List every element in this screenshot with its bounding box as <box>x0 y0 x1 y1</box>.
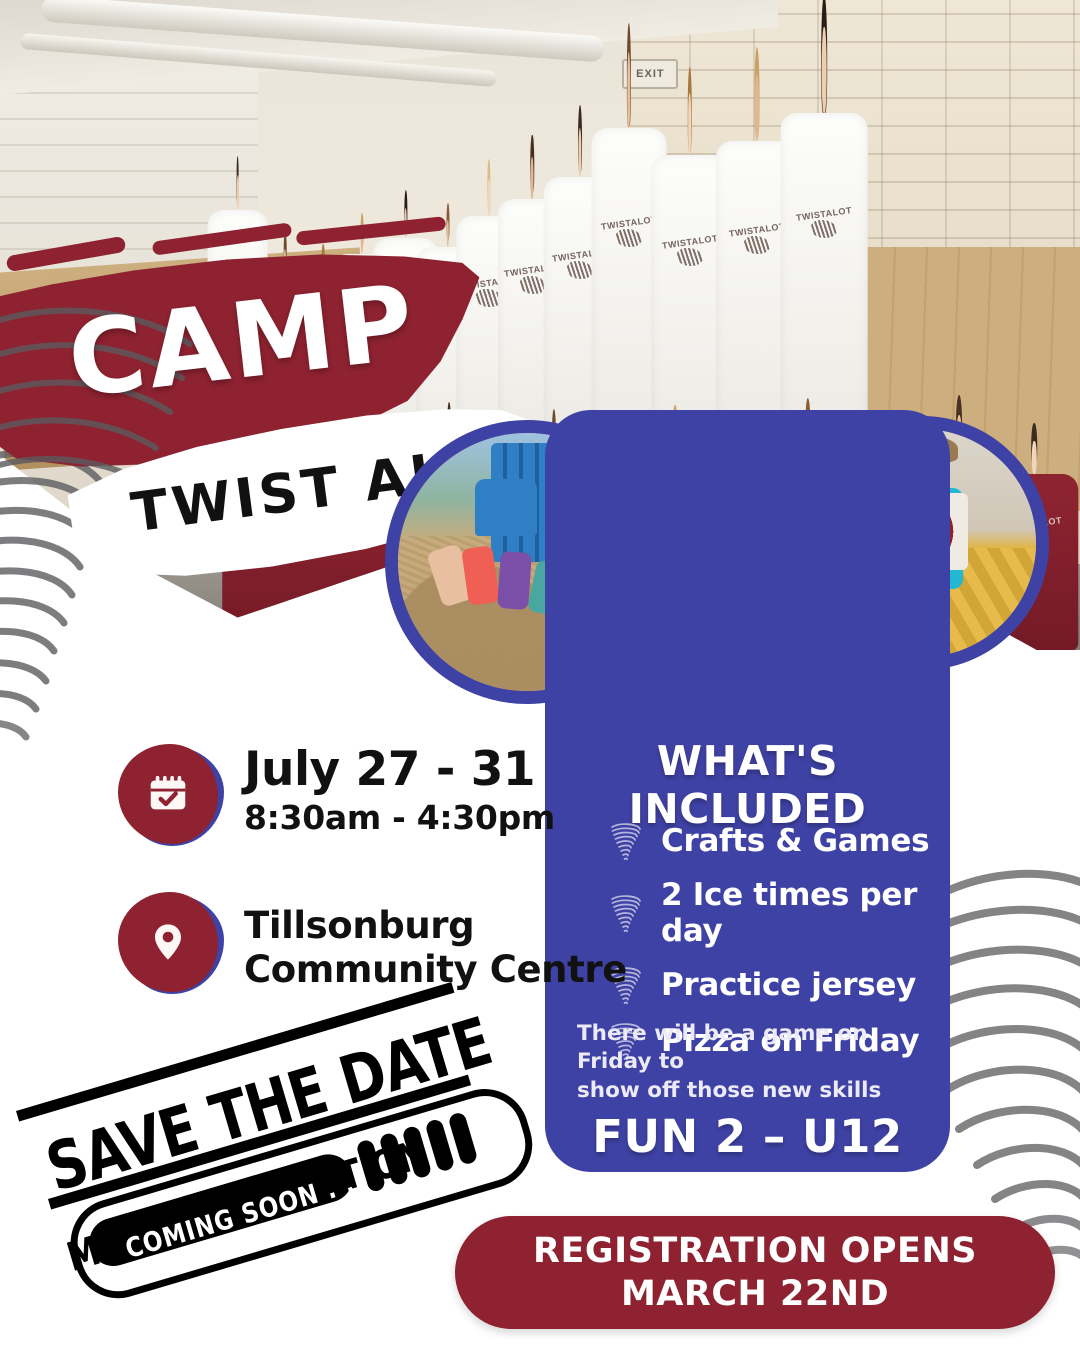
detail-row-date: July 27 - 31 8:30am - 4:30pm <box>118 742 555 846</box>
registration-line2: MARCH 22ND <box>621 1273 889 1316</box>
location-pin-icon <box>146 920 190 964</box>
poster-canvas: EXIT TWISTALOTTWISTALOTTWISTALOTTWISTALO… <box>0 0 1080 1350</box>
kid-figure: TWISTALOT <box>654 79 726 449</box>
calendar-icon <box>145 771 191 817</box>
whats-included-heading: WHAT'S INCLUDED <box>545 737 950 833</box>
age-range-label: FUN 2 – U12 <box>545 1110 950 1163</box>
kid-figure: TWISTALOT <box>784 9 864 445</box>
location-icon-badge <box>118 890 222 994</box>
included-item: Practice jersey <box>609 965 981 1005</box>
whats-included-panel: WHAT'S INCLUDED Crafts & Games2 Ice time… <box>545 410 950 1172</box>
coming-soon-text: COMING SOON . . . <box>122 1163 376 1265</box>
friday-game-note: There will be a game on Friday to show o… <box>577 1020 927 1105</box>
friday-game-note-line1: There will be a game on Friday to <box>577 1020 927 1077</box>
calendar-icon-badge <box>118 742 222 846</box>
venue-city: Tillsonburg <box>244 904 627 948</box>
tornado-bullet-icon <box>609 821 643 861</box>
camp-dates: July 27 - 31 <box>244 746 555 793</box>
included-item-label: 2 Ice times per day <box>661 877 981 949</box>
camp-times: 8:30am - 4:30pm <box>244 799 555 837</box>
registration-line1: REGISTRATION OPENS <box>533 1230 977 1273</box>
detail-row-location: Tillsonburg Community Centre <box>118 890 627 994</box>
friday-game-note-line2: show off those new skills <box>577 1077 927 1105</box>
included-item-label: Practice jersey <box>661 967 916 1003</box>
included-item-label: Crafts & Games <box>661 823 929 859</box>
included-item: Crafts & Games <box>609 821 981 861</box>
registration-opens-button[interactable]: REGISTRATION OPENS MARCH 22ND <box>455 1216 1055 1329</box>
included-item: 2 Ice times per day <box>609 877 981 949</box>
